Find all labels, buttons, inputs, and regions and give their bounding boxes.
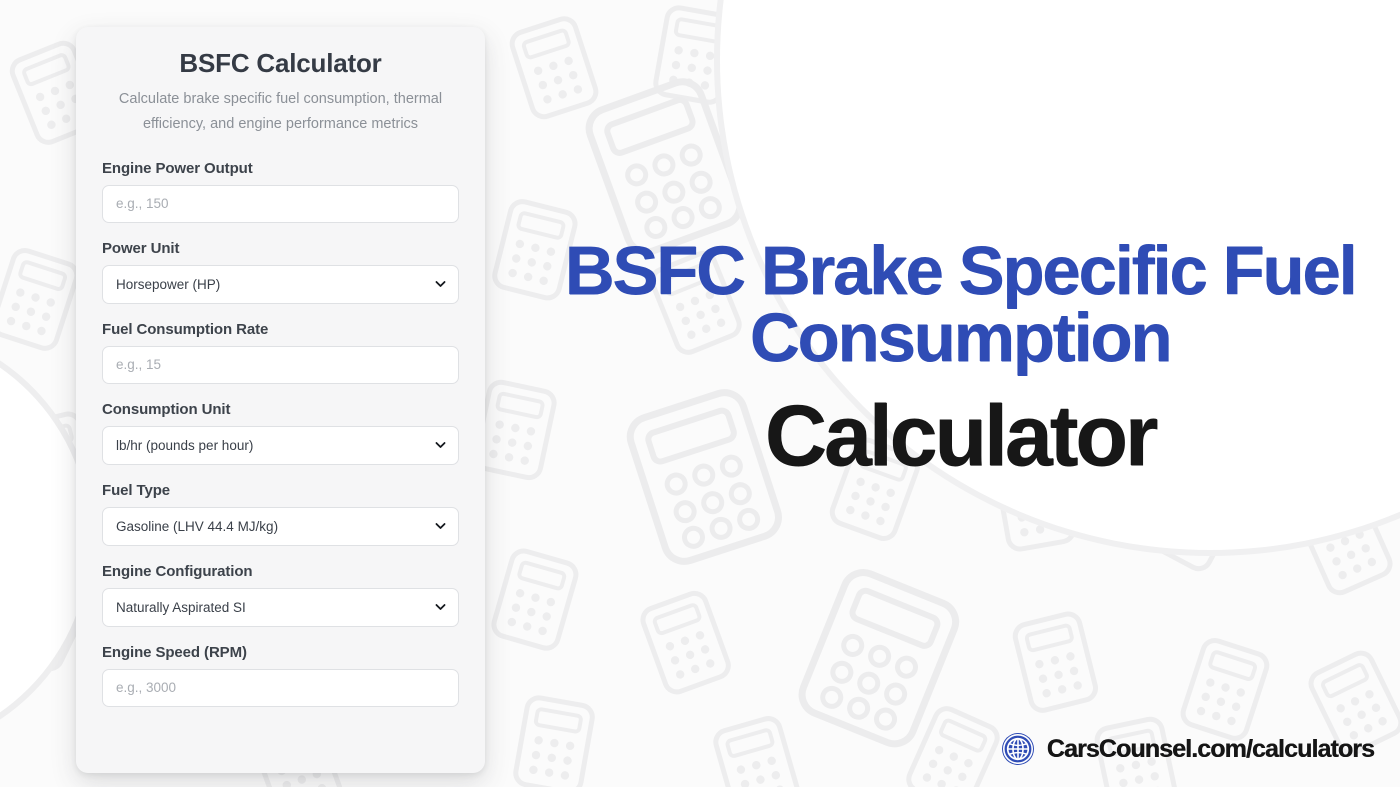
select-value: Naturally Aspirated SI — [116, 600, 246, 615]
field-fuel-consumption-rate: Fuel Consumption Rate e.g., 15 — [102, 321, 459, 384]
brand-footer[interactable]: CarsCounsel.com/calculators — [1001, 732, 1374, 766]
input-placeholder: e.g., 15 — [116, 357, 161, 372]
select-value: Horsepower (HP) — [116, 277, 220, 292]
input-placeholder: e.g., 3000 — [116, 680, 176, 695]
hero-title: BSFC Brake Specific Fuel Consumption — [520, 238, 1400, 370]
field-label: Consumption Unit — [102, 401, 459, 418]
chevron-down-icon — [434, 439, 447, 452]
card-subtitle: Calculate brake specific fuel consumptio… — [102, 87, 459, 138]
field-engine-configuration: Engine Configuration Naturally Aspirated… — [102, 563, 459, 627]
engine-configuration-select[interactable]: Naturally Aspirated SI — [102, 588, 459, 627]
card-title: BSFC Calculator — [102, 48, 459, 79]
hero-section: BSFC Brake Specific Fuel Consumption Cal… — [520, 0, 1400, 787]
chevron-down-icon — [434, 601, 447, 614]
field-consumption-unit: Consumption Unit lb/hr (pounds per hour) — [102, 401, 459, 465]
select-value: Gasoline (LHV 44.4 MJ/kg) — [116, 519, 278, 534]
select-value: lb/hr (pounds per hour) — [116, 438, 253, 453]
globe-icon — [1001, 732, 1035, 766]
hero-subtitle: Calculator — [765, 393, 1156, 479]
fuel-consumption-rate-input[interactable]: e.g., 15 — [102, 346, 459, 384]
field-label: Fuel Consumption Rate — [102, 321, 459, 338]
field-fuel-type: Fuel Type Gasoline (LHV 44.4 MJ/kg) — [102, 482, 459, 546]
input-placeholder: e.g., 150 — [116, 196, 169, 211]
field-power-unit: Power Unit Horsepower (HP) — [102, 240, 459, 304]
brand-text: CarsCounsel.com/calculators — [1047, 735, 1374, 764]
chevron-down-icon — [434, 520, 447, 533]
fuel-type-select[interactable]: Gasoline (LHV 44.4 MJ/kg) — [102, 507, 459, 546]
consumption-unit-select[interactable]: lb/hr (pounds per hour) — [102, 426, 459, 465]
engine-speed-input[interactable]: e.g., 3000 — [102, 669, 459, 707]
field-label: Engine Speed (RPM) — [102, 644, 459, 661]
field-engine-speed: Engine Speed (RPM) e.g., 3000 — [102, 644, 459, 707]
engine-power-output-input[interactable]: e.g., 150 — [102, 185, 459, 223]
field-label: Fuel Type — [102, 482, 459, 499]
calculator-card: BSFC Calculator Calculate brake specific… — [76, 27, 485, 773]
field-label: Engine Configuration — [102, 563, 459, 580]
field-engine-power-output: Engine Power Output e.g., 150 — [102, 160, 459, 223]
power-unit-select[interactable]: Horsepower (HP) — [102, 265, 459, 304]
chevron-down-icon — [434, 278, 447, 291]
field-label: Engine Power Output — [102, 160, 459, 177]
field-label: Power Unit — [102, 240, 459, 257]
